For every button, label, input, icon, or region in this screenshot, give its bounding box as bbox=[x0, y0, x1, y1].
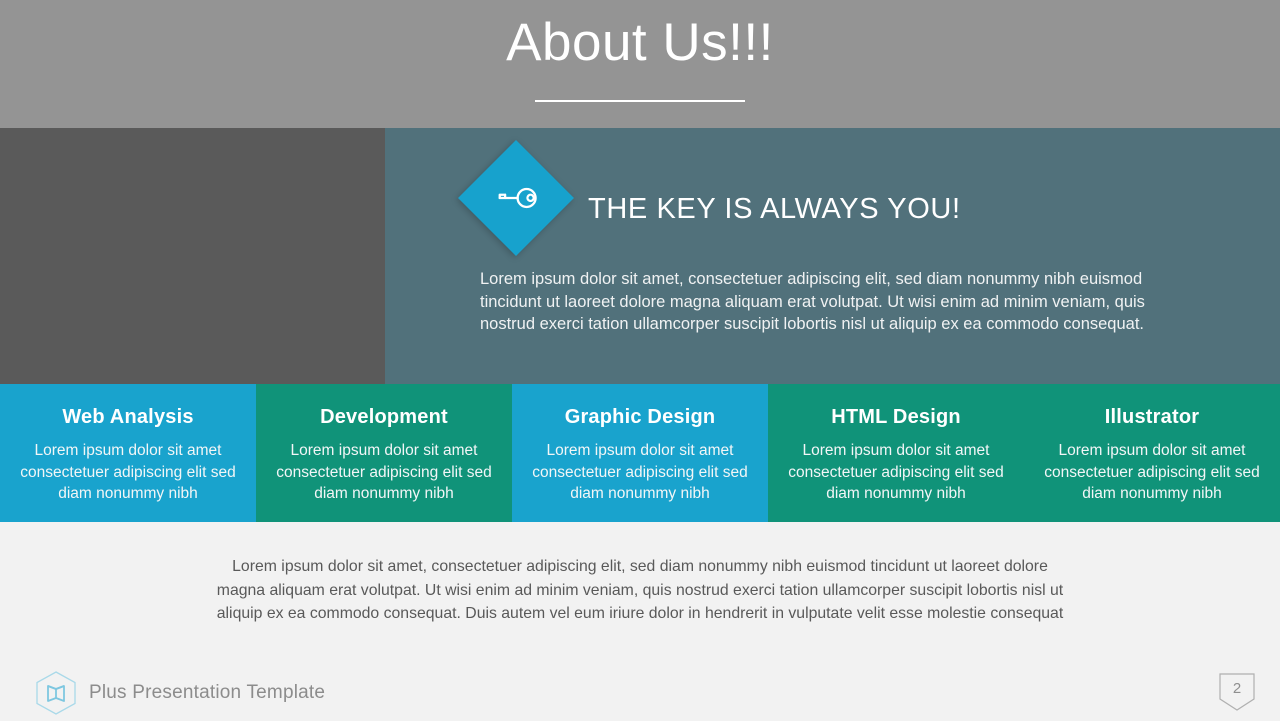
footer-description: Lorem ipsum dolor sit amet, consectetuer… bbox=[208, 555, 1072, 626]
service-text: Lorem ipsum dolor sit amet consectetuer … bbox=[1035, 440, 1269, 505]
service-text: Lorem ipsum dolor sit amet consectetuer … bbox=[779, 440, 1013, 505]
feature-body-text: Lorem ipsum dolor sit amet, consectetuer… bbox=[480, 268, 1148, 336]
service-column-html-design[interactable]: HTML Design Lorem ipsum dolor sit amet c… bbox=[768, 384, 1024, 522]
page-number: 2 bbox=[1219, 680, 1255, 698]
service-title: HTML Design bbox=[831, 405, 961, 429]
image-placeholder-panel bbox=[0, 128, 385, 384]
service-text: Lorem ipsum dolor sit amet consectetuer … bbox=[523, 440, 757, 505]
feature-content-panel: THE KEY IS ALWAYS YOU! Lorem ipsum dolor… bbox=[385, 128, 1280, 384]
brand-lockup: Plus Presentation Template bbox=[32, 670, 325, 716]
service-column-illustrator[interactable]: Illustrator Lorem ipsum dolor sit amet c… bbox=[1024, 384, 1280, 522]
service-column-development[interactable]: Development Lorem ipsum dolor sit amet c… bbox=[256, 384, 512, 522]
service-title: Graphic Design bbox=[565, 405, 716, 429]
feature-heading: THE KEY IS ALWAYS YOU! bbox=[588, 192, 961, 226]
title-divider bbox=[535, 100, 745, 102]
service-title: Illustrator bbox=[1105, 405, 1199, 429]
brand-name-label: Plus Presentation Template bbox=[89, 682, 325, 704]
service-columns: Web Analysis Lorem ipsum dolor sit amet … bbox=[0, 384, 1280, 522]
page-number-badge: 2 bbox=[1219, 673, 1255, 711]
service-column-graphic-design[interactable]: Graphic Design Lorem ipsum dolor sit ame… bbox=[512, 384, 768, 522]
feature-band: THE KEY IS ALWAYS YOU! Lorem ipsum dolor… bbox=[0, 128, 1280, 384]
map-hexagon-logo-icon bbox=[32, 670, 80, 716]
page-title: About Us!!! bbox=[0, 11, 1280, 75]
service-text: Lorem ipsum dolor sit amet consectetuer … bbox=[11, 440, 245, 505]
service-title: Development bbox=[320, 405, 448, 429]
slide-about-us: About Us!!! THE KEY IS ALWAYS YOU! bbox=[0, 0, 1280, 720]
service-title: Web Analysis bbox=[62, 405, 193, 429]
slide-header: About Us!!! bbox=[0, 0, 1280, 128]
service-text: Lorem ipsum dolor sit amet consectetuer … bbox=[267, 440, 501, 505]
key-icon bbox=[477, 159, 555, 237]
service-column-web-analysis[interactable]: Web Analysis Lorem ipsum dolor sit amet … bbox=[0, 384, 256, 522]
